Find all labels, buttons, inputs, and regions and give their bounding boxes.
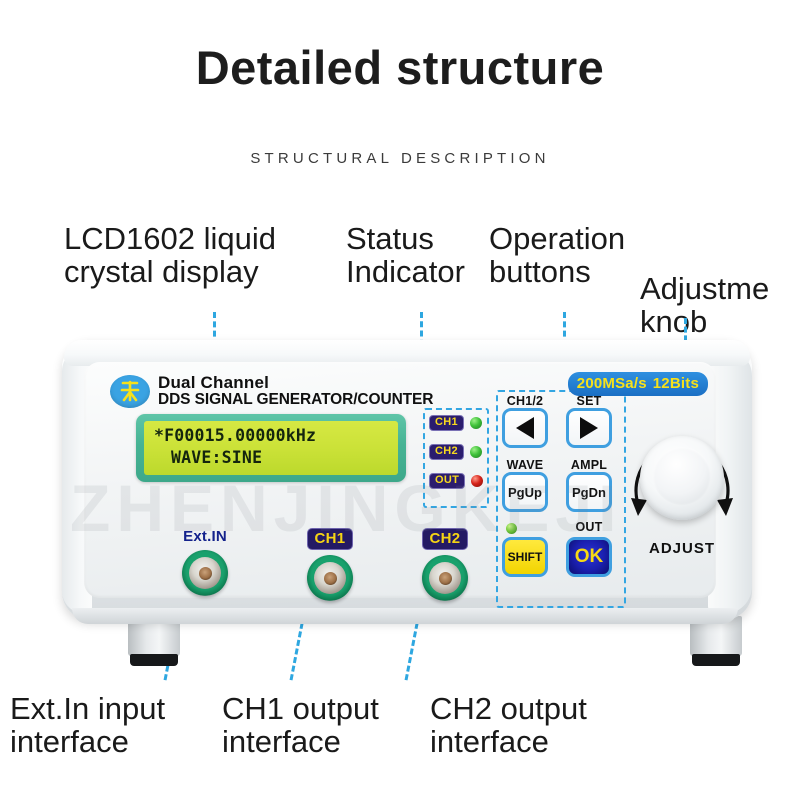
- adjust-knob[interactable]: [640, 436, 724, 520]
- button-shift[interactable]: SHIFT: [502, 537, 548, 577]
- bnc-center-pin: [439, 572, 452, 585]
- callout-ch1-interface: CH1 output interface: [222, 692, 432, 758]
- callout-lcd-display: LCD1602 liquid crystal display: [64, 222, 364, 288]
- signal-generator-device: Dual Channel DDS SIGNAL GENERATOR/COUNTE…: [62, 340, 752, 620]
- status-badge-out: OUT: [429, 473, 465, 489]
- brand-line-1: Dual Channel: [158, 374, 433, 392]
- button-row-page: WAVE PgUp AMPL PgDn: [502, 458, 620, 512]
- page-subtitle: STRUCTURAL DESCRIPTION: [0, 150, 800, 167]
- bnc-jack-ext-in[interactable]: [182, 550, 228, 596]
- button-col-ok: OUT OK: [566, 520, 612, 577]
- button-pgdn[interactable]: PgDn: [566, 472, 612, 512]
- connector-label-ch1-wrap: CH1: [299, 528, 361, 550]
- callout-extin-interface: Ext.In input interface: [10, 692, 225, 758]
- status-led-ch2: [470, 446, 482, 458]
- shift-indicator-led: [506, 523, 517, 534]
- button-label-ok: OK: [575, 546, 604, 568]
- bnc-inner: [429, 562, 461, 594]
- bnc-inner: [314, 562, 346, 594]
- bnc-center-pin: [199, 567, 212, 580]
- infographic-stage: Detailed structure STRUCTURAL DESCRIPTIO…: [0, 0, 800, 800]
- status-row-ch1: CH1: [429, 414, 487, 431]
- status-row-ch2: CH2: [429, 443, 487, 460]
- spec-resolution: 12Bits: [653, 375, 699, 392]
- front-panel: Dual Channel DDS SIGNAL GENERATOR/COUNTE…: [84, 362, 716, 598]
- button-col-set: SET: [566, 394, 612, 448]
- button-col-wave: WAVE PgUp: [502, 458, 548, 512]
- adjust-knob-group: ADJUST: [624, 418, 740, 578]
- callout-status-indicator: Status Indicator: [346, 222, 496, 288]
- brand-block: Dual Channel DDS SIGNAL GENERATOR/COUNTE…: [110, 374, 433, 408]
- status-indicator-group: CH1 CH2 OUT: [429, 414, 487, 501]
- connector-label-ch2: CH2: [422, 528, 469, 550]
- spec-sample-rate: 200MSa/s: [577, 375, 647, 392]
- button-row-nav: CH1/2 SET: [502, 394, 620, 448]
- button-prev-channel[interactable]: [502, 408, 548, 448]
- button-caption-ampl: AMPL: [566, 458, 612, 472]
- bnc-jack-ch1[interactable]: [307, 555, 353, 601]
- lcd-line-frequency: *F00015.00000kHz: [154, 425, 392, 447]
- brand-logo-icon: [110, 375, 150, 408]
- shift-led-wrap: [502, 520, 548, 537]
- connector-label-ext-in: Ext.IN: [174, 528, 236, 545]
- connector-ch1[interactable]: CH1: [299, 528, 361, 601]
- button-row-action: SHIFT OUT OK: [502, 520, 620, 577]
- button-label-shift: SHIFT: [508, 550, 543, 564]
- bnc-center-pin: [324, 572, 337, 585]
- brand-text: Dual Channel DDS SIGNAL GENERATOR/COUNTE…: [158, 374, 433, 408]
- status-badge-ch2: CH2: [429, 444, 464, 460]
- button-label-pgdn: PgDn: [572, 485, 606, 500]
- status-badge-ch1: CH1: [429, 415, 464, 431]
- connector-ext-in[interactable]: Ext.IN: [174, 528, 236, 596]
- button-ok[interactable]: OK: [566, 537, 612, 577]
- button-col-ampl: AMPL PgDn: [566, 458, 612, 512]
- button-caption-set: SET: [566, 394, 612, 408]
- button-pgup[interactable]: PgUp: [502, 472, 548, 512]
- button-caption-out: OUT: [566, 520, 612, 537]
- arrow-right-icon: [580, 417, 598, 439]
- lcd-bezel: *F00015.00000kHz WAVE:SINE: [136, 414, 406, 482]
- foot-pad: [692, 654, 740, 666]
- bnc-inner: [189, 557, 221, 589]
- button-caption-ch12: CH1/2: [502, 394, 548, 408]
- bnc-jack-ch2[interactable]: [422, 555, 468, 601]
- button-caption-wave: WAVE: [502, 458, 548, 472]
- adjust-knob-caption: ADJUST: [624, 540, 740, 557]
- status-led-ch1: [470, 417, 482, 429]
- lcd-line-waveform: WAVE:SINE: [154, 447, 392, 469]
- page-title: Detailed structure: [0, 40, 800, 95]
- callout-ch2-interface: CH2 output interface: [430, 692, 640, 758]
- operation-button-block: CH1/2 SET WAVE: [502, 394, 620, 604]
- button-col-shift: SHIFT: [502, 520, 548, 577]
- callout-operation-buttons: Operation buttons: [489, 222, 649, 288]
- button-label-pgup: PgUp: [508, 485, 542, 500]
- arrow-left-icon: [516, 417, 534, 439]
- device-bottom-lip: [72, 608, 738, 624]
- button-set[interactable]: [566, 408, 612, 448]
- connector-label-ch1: CH1: [307, 528, 354, 550]
- foot-pad: [130, 654, 178, 666]
- callout-adjustment-knob: Adjustme knob: [640, 272, 800, 338]
- lcd-screen: *F00015.00000kHz WAVE:SINE: [144, 421, 398, 475]
- spec-badge: 200MSa/s12Bits: [568, 372, 708, 396]
- status-row-out: OUT: [429, 472, 487, 489]
- connector-ch2[interactable]: CH2: [414, 528, 476, 601]
- logo-glyph-icon: [119, 379, 141, 403]
- connector-label-ch2-wrap: CH2: [414, 528, 476, 550]
- button-col-ch12: CH1/2: [502, 394, 548, 448]
- status-led-out: [471, 475, 483, 487]
- brand-line-2: DDS SIGNAL GENERATOR/COUNTER: [158, 392, 433, 408]
